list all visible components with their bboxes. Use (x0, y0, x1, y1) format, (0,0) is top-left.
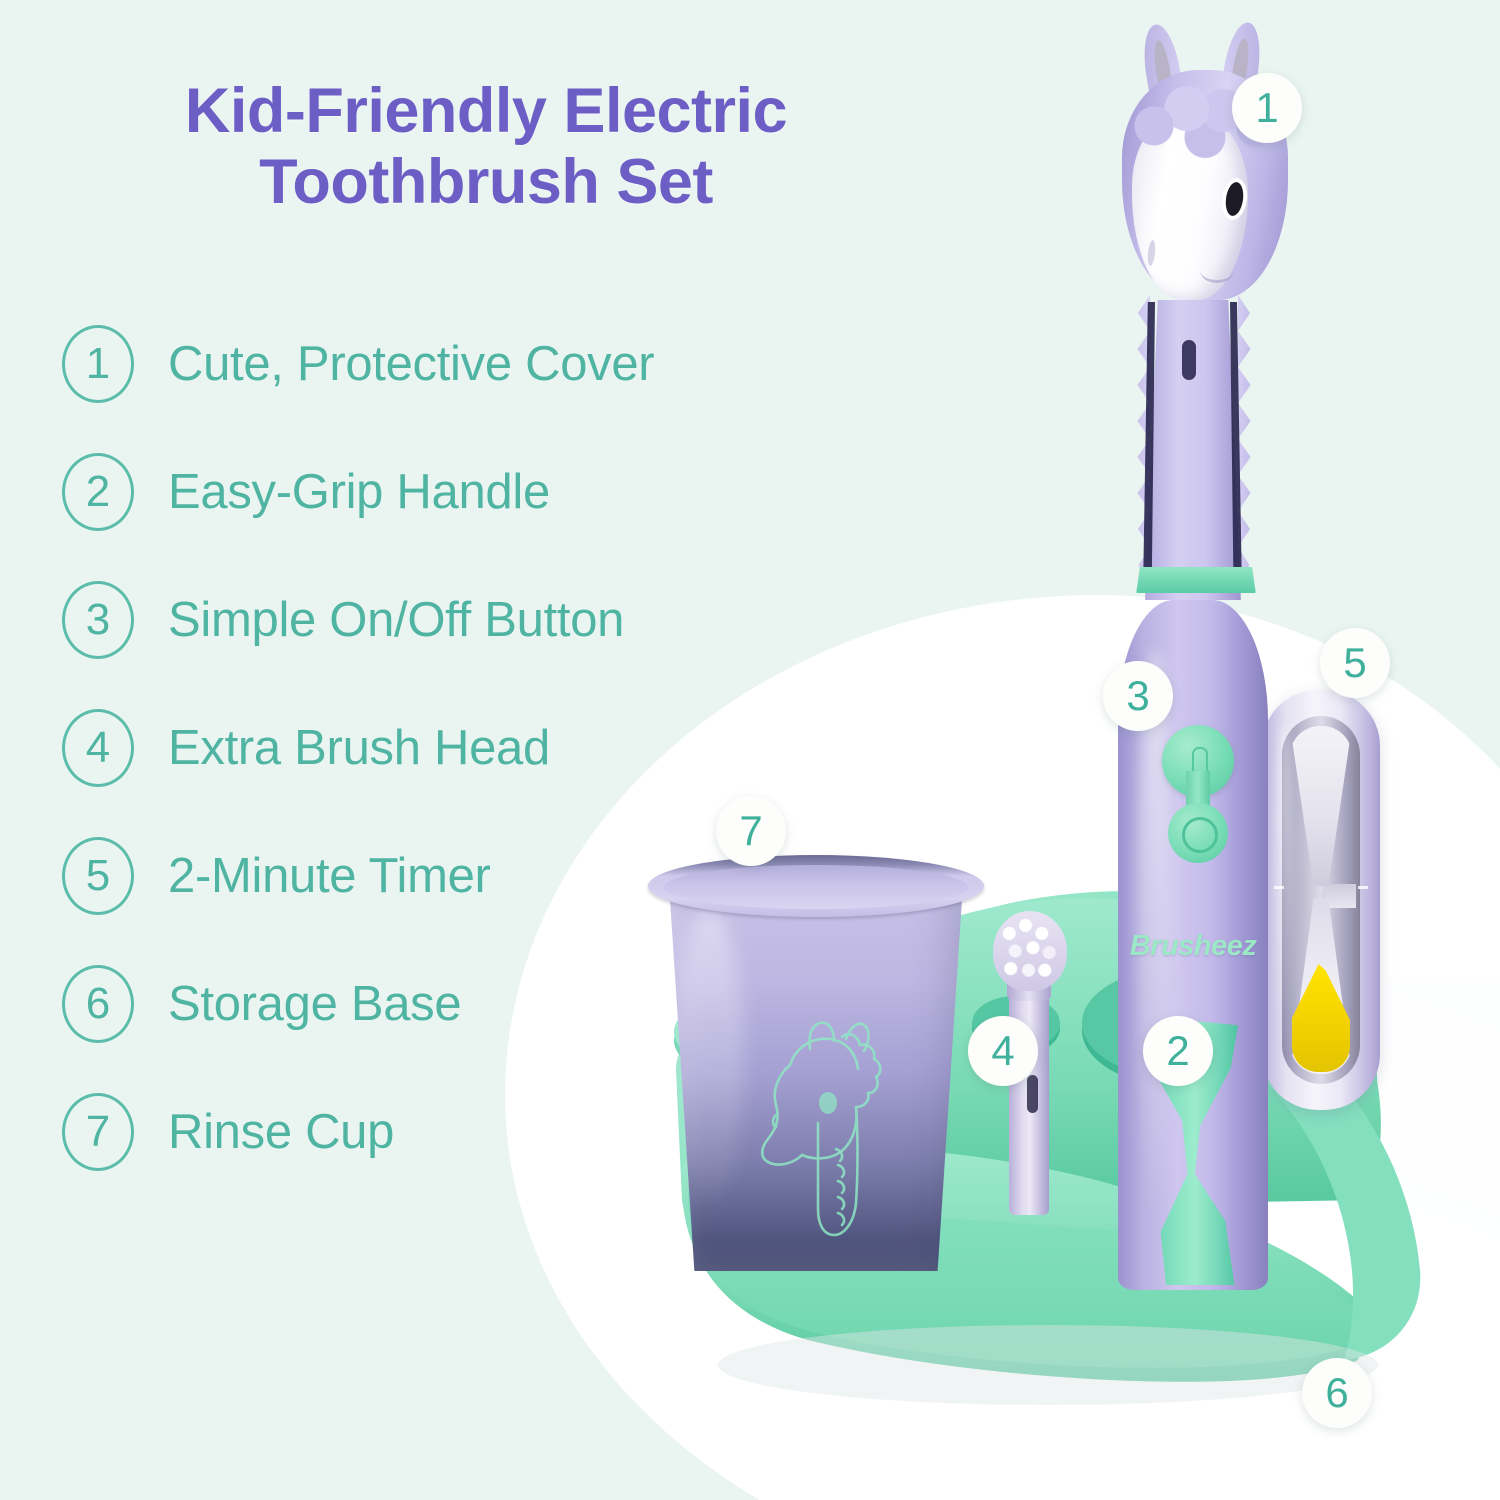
rinse-cup-highlight (674, 907, 744, 1207)
mode-icon (1182, 817, 1218, 853)
callout-badge-storage-base[interactable]: 6 (1302, 1358, 1372, 1428)
callout-badge-two-minute-timer[interactable]: 5 (1320, 628, 1390, 698)
rinse-cup (640, 855, 992, 1275)
product-photo: Brusheez (0, 0, 1500, 1500)
brush-head-bristles (993, 911, 1067, 991)
llama-engraving-icon (750, 1003, 910, 1253)
brush-head-slot (1027, 1075, 1038, 1113)
on-off-button[interactable] (1162, 725, 1234, 865)
infographic-canvas: Kid-Friendly Electric Toothbrush Set 1 C… (0, 0, 1500, 1500)
cover-mint-band (1135, 567, 1257, 593)
timer-notch-right (1358, 886, 1368, 889)
callout-badge-on-off-button[interactable]: 3 (1103, 661, 1173, 731)
callout-badge-easy-grip-handle[interactable]: 2 (1143, 1016, 1213, 1086)
callout-badge-extra-brush-head[interactable]: 4 (968, 1016, 1038, 1086)
rinse-cup-rim-inner (664, 865, 968, 909)
electric-toothbrush: Brusheez (1090, 10, 1340, 1300)
cover-wool-right (1238, 295, 1268, 595)
llama-head-cover (1104, 18, 1304, 318)
cover-vent-slot (1182, 340, 1196, 380)
brand-logo: Brusheez (1118, 930, 1268, 963)
callout-badge-protective-cover[interactable]: 1 (1232, 73, 1302, 143)
callout-badge-rinse-cup[interactable]: 7 (716, 796, 786, 866)
llama-mouth (1200, 258, 1234, 283)
